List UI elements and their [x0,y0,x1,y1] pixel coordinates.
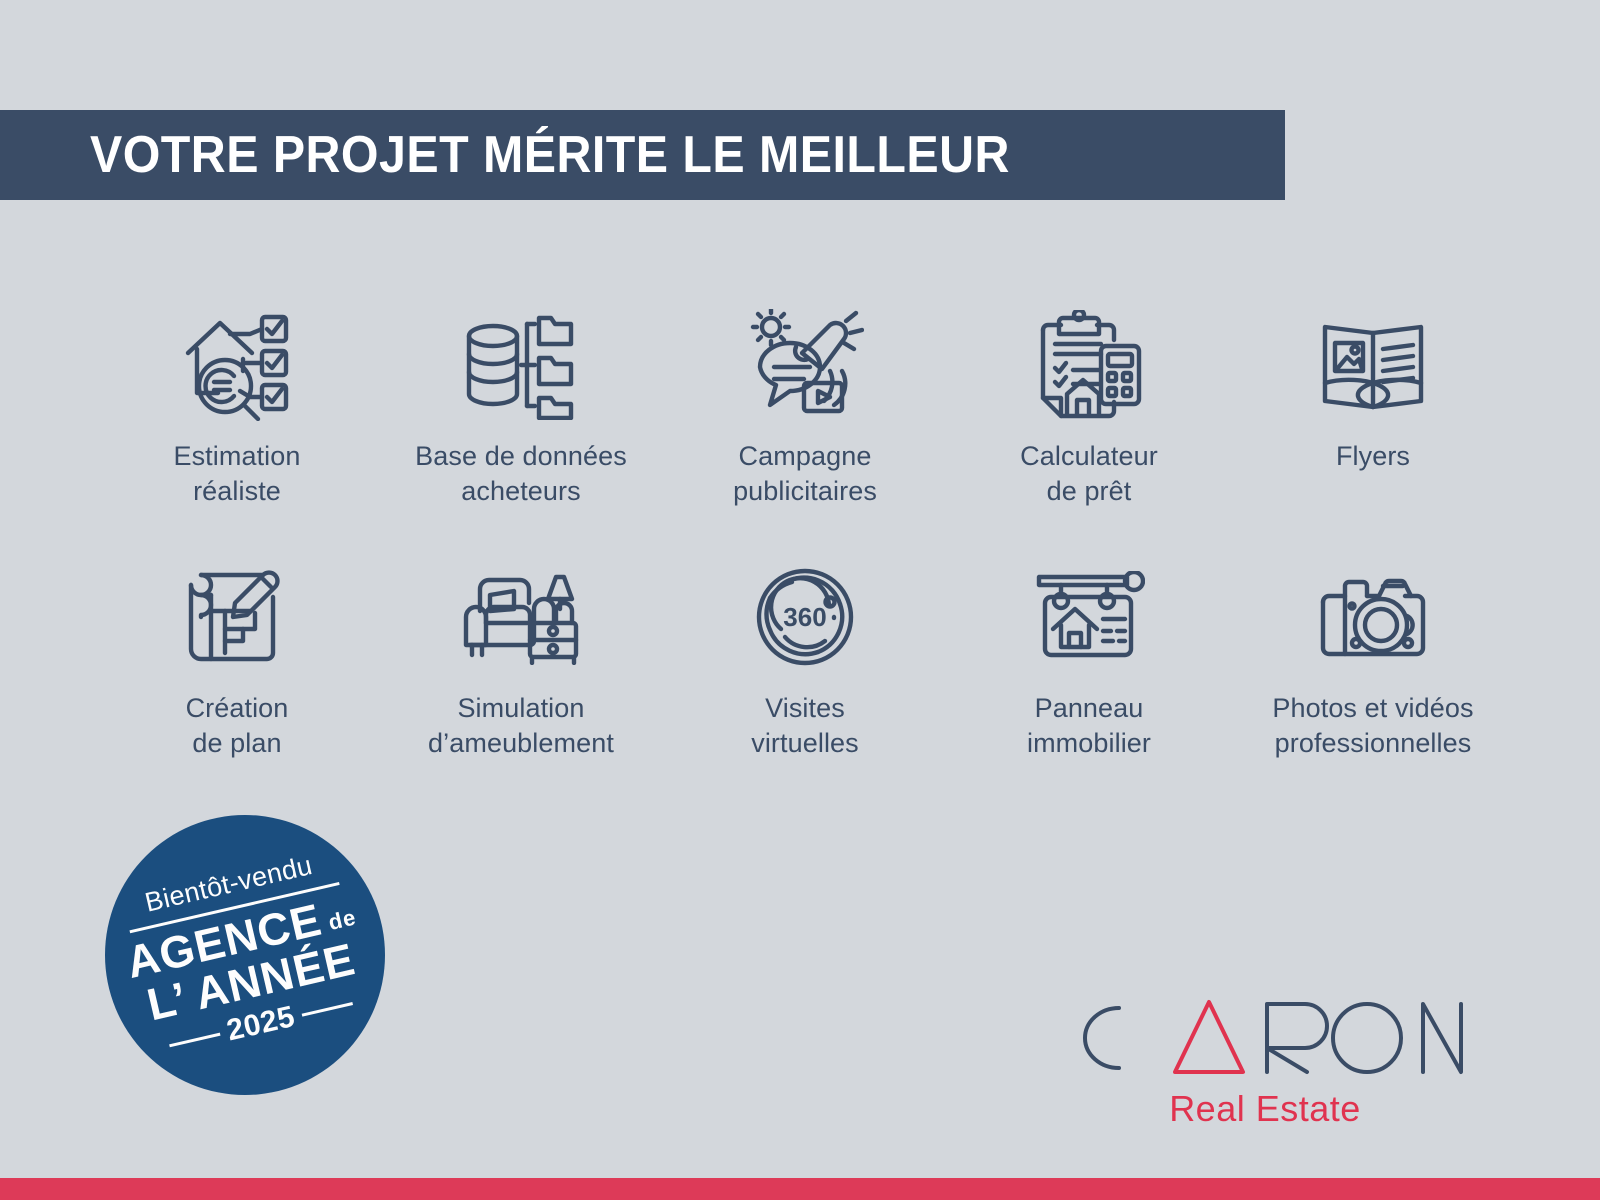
svg-text:360: 360 [783,602,826,632]
feature-base-de-donnees[interactable]: Base de données acheteurs [379,305,663,509]
feature-visites-virtuelles[interactable]: 360 Visites virtuelles [663,557,947,761]
open-brochure-icon [1308,305,1438,425]
header-banner: VOTRE PROJET MÉRITE LE MEILLEUR [0,110,1285,200]
feature-creation-de-plan[interactable]: Création de plan [95,557,379,761]
house-euro-checklist-icon [172,305,302,425]
seal-divider-left [169,1032,220,1047]
seal-de-text: de [326,906,358,934]
features-grid: Estimation réaliste [95,305,1515,761]
feature-label: Campagne publicitaires [733,439,877,509]
feature-calculateur-de-pret[interactable]: Calculateur de prêt [947,305,1231,509]
feature-flyers[interactable]: Flyers [1231,305,1515,509]
feature-label: Photos et vidéos professionnelles [1272,691,1473,761]
brand-wordmark [1067,990,1463,1086]
features-row-1: Estimation réaliste [95,305,1515,509]
feature-label: Calculateur de prêt [1020,439,1158,509]
feature-simulation-ameublement[interactable]: Simulation d’ameublement [379,557,663,761]
feature-panneau-immobilier[interactable]: Panneau immobilier [947,557,1231,761]
megaphone-ad-icon [740,305,870,425]
feature-label: Panneau immobilier [1027,691,1151,761]
brand-logo: Real Estate [1065,990,1465,1130]
caron-letters-icon [1067,990,1463,1086]
award-seal-content: Bientôt-vendu AGENCE de L’ ANNÉE 2025 [105,815,385,1095]
seal-divider-right [302,1002,353,1017]
poster-canvas: VOTRE PROJET MÉRITE LE MEILLEUR [0,0,1600,1200]
dslr-camera-icon [1308,557,1438,677]
bottom-accent-bar [0,1178,1600,1200]
feature-label: Estimation réaliste [173,439,300,509]
feature-label: Visites virtuelles [751,691,859,761]
feature-label: Flyers [1336,439,1410,474]
feature-estimation-realiste[interactable]: Estimation réaliste [95,305,379,509]
database-folders-icon [456,305,586,425]
clipboard-calculator-icon [1024,305,1154,425]
page-title: VOTRE PROJET MÉRITE LE MEILLEUR [90,125,1010,185]
globe-360-icon: 360 [740,557,870,677]
features-row-2: Création de plan [95,557,1515,761]
feature-label: Simulation d’ameublement [428,691,614,761]
feature-photos-videos[interactable]: Photos et vidéos professionnelles [1231,557,1515,761]
blueprint-pencil-icon [172,557,302,677]
sofa-lamp-icon [456,557,586,677]
feature-label: Base de données acheteurs [415,439,627,509]
feature-label: Création de plan [186,691,289,761]
hanging-sign-icon [1024,557,1154,677]
award-seal: Bientôt-vendu AGENCE de L’ ANNÉE 2025 [105,815,385,1095]
brand-tagline: Real Estate [1169,1088,1361,1130]
feature-campagne-publicitaires[interactable]: Campagne publicitaires [663,305,947,509]
